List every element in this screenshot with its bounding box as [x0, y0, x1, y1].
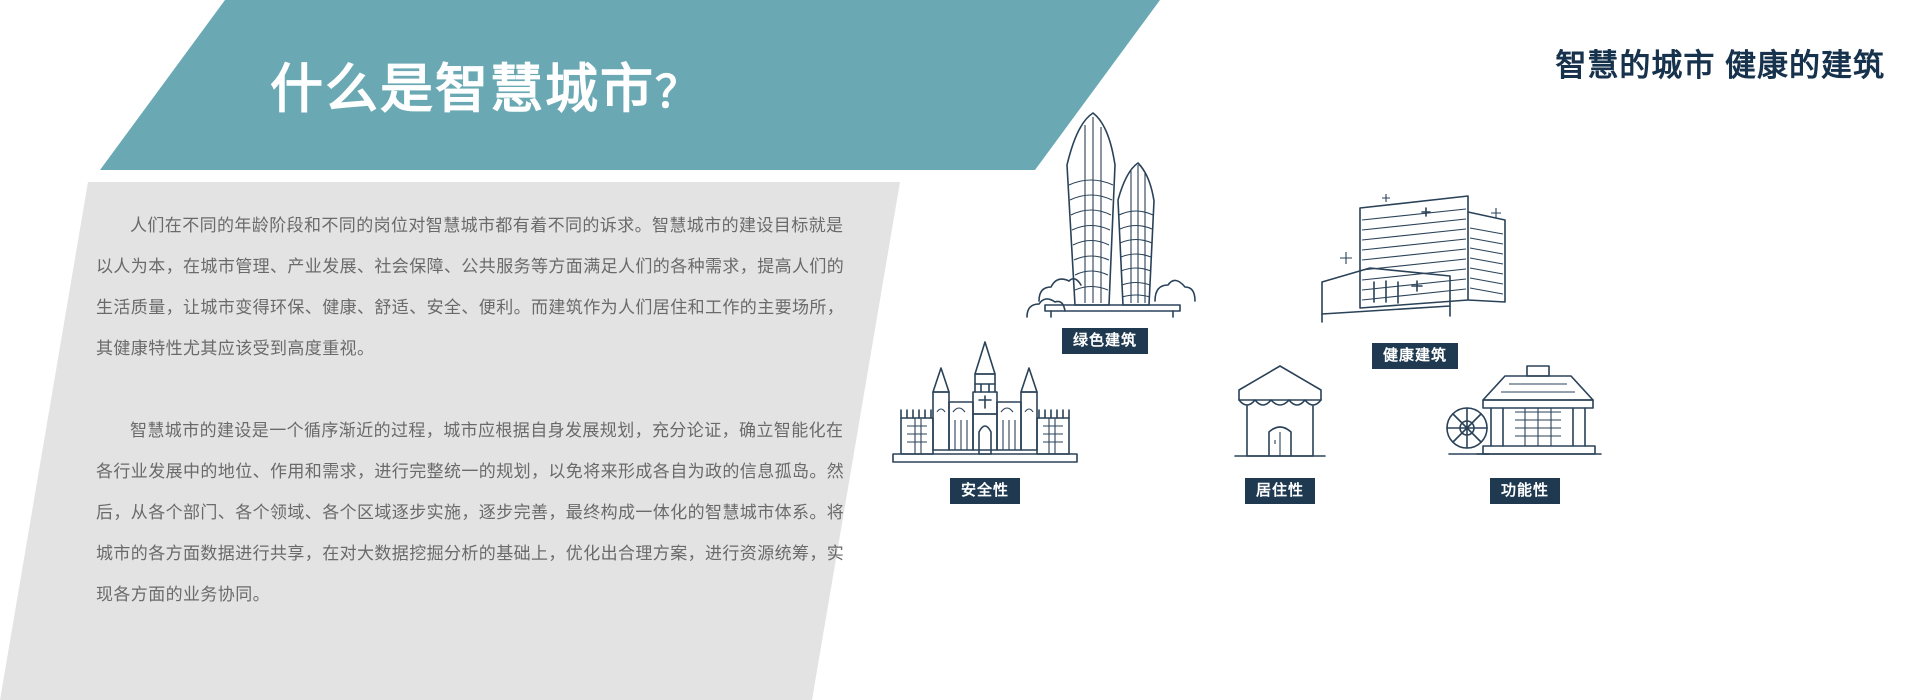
- illustration-safety: 安全性: [820, 340, 1150, 504]
- badge-functionality: 功能性: [1490, 478, 1560, 504]
- page-title: 什么是智慧城市？: [270, 47, 701, 123]
- page-title-question-mark: ？: [655, 68, 701, 117]
- hospital-building-icon: [1250, 190, 1580, 335]
- castle-icon: [820, 340, 1150, 470]
- illustration-functionality: 功能性: [1380, 360, 1670, 504]
- page-title-text: 什么是智慧城市: [270, 60, 655, 119]
- illustration-green-building: 绿色建筑: [940, 105, 1270, 354]
- slide-root: 什么是智慧城市？ 智慧的城市 健康的建筑 人们在不同的年龄阶段和不同的岗位对智慧…: [0, 0, 1920, 700]
- house-tent-icon: [1150, 360, 1410, 470]
- illustration-livability: 居住性: [1150, 360, 1410, 504]
- pavilion-waterwheel-icon: [1380, 360, 1670, 470]
- badge-safety: 安全性: [950, 478, 1020, 504]
- header-slogan: 智慧的城市 健康的建筑: [1555, 40, 1885, 85]
- paragraph-2: 智慧城市的建设是一个循序渐近的过程，城市应根据自身发展规划，充分论证，确立智能化…: [96, 410, 856, 615]
- badge-livability: 居住性: [1245, 478, 1315, 504]
- body-copy: 人们在不同的年龄阶段和不同的岗位对智慧城市都有着不同的诉求。智慧城市的建设目标就…: [96, 205, 856, 615]
- illustration-health-building: 健康建筑: [1250, 190, 1580, 369]
- illustration-group: 绿色建筑: [820, 95, 1920, 615]
- paragraph-1: 人们在不同的年龄阶段和不同的岗位对智慧城市都有着不同的诉求。智慧城市的建设目标就…: [96, 205, 856, 369]
- twin-tower-skyscraper-icon: [940, 105, 1270, 320]
